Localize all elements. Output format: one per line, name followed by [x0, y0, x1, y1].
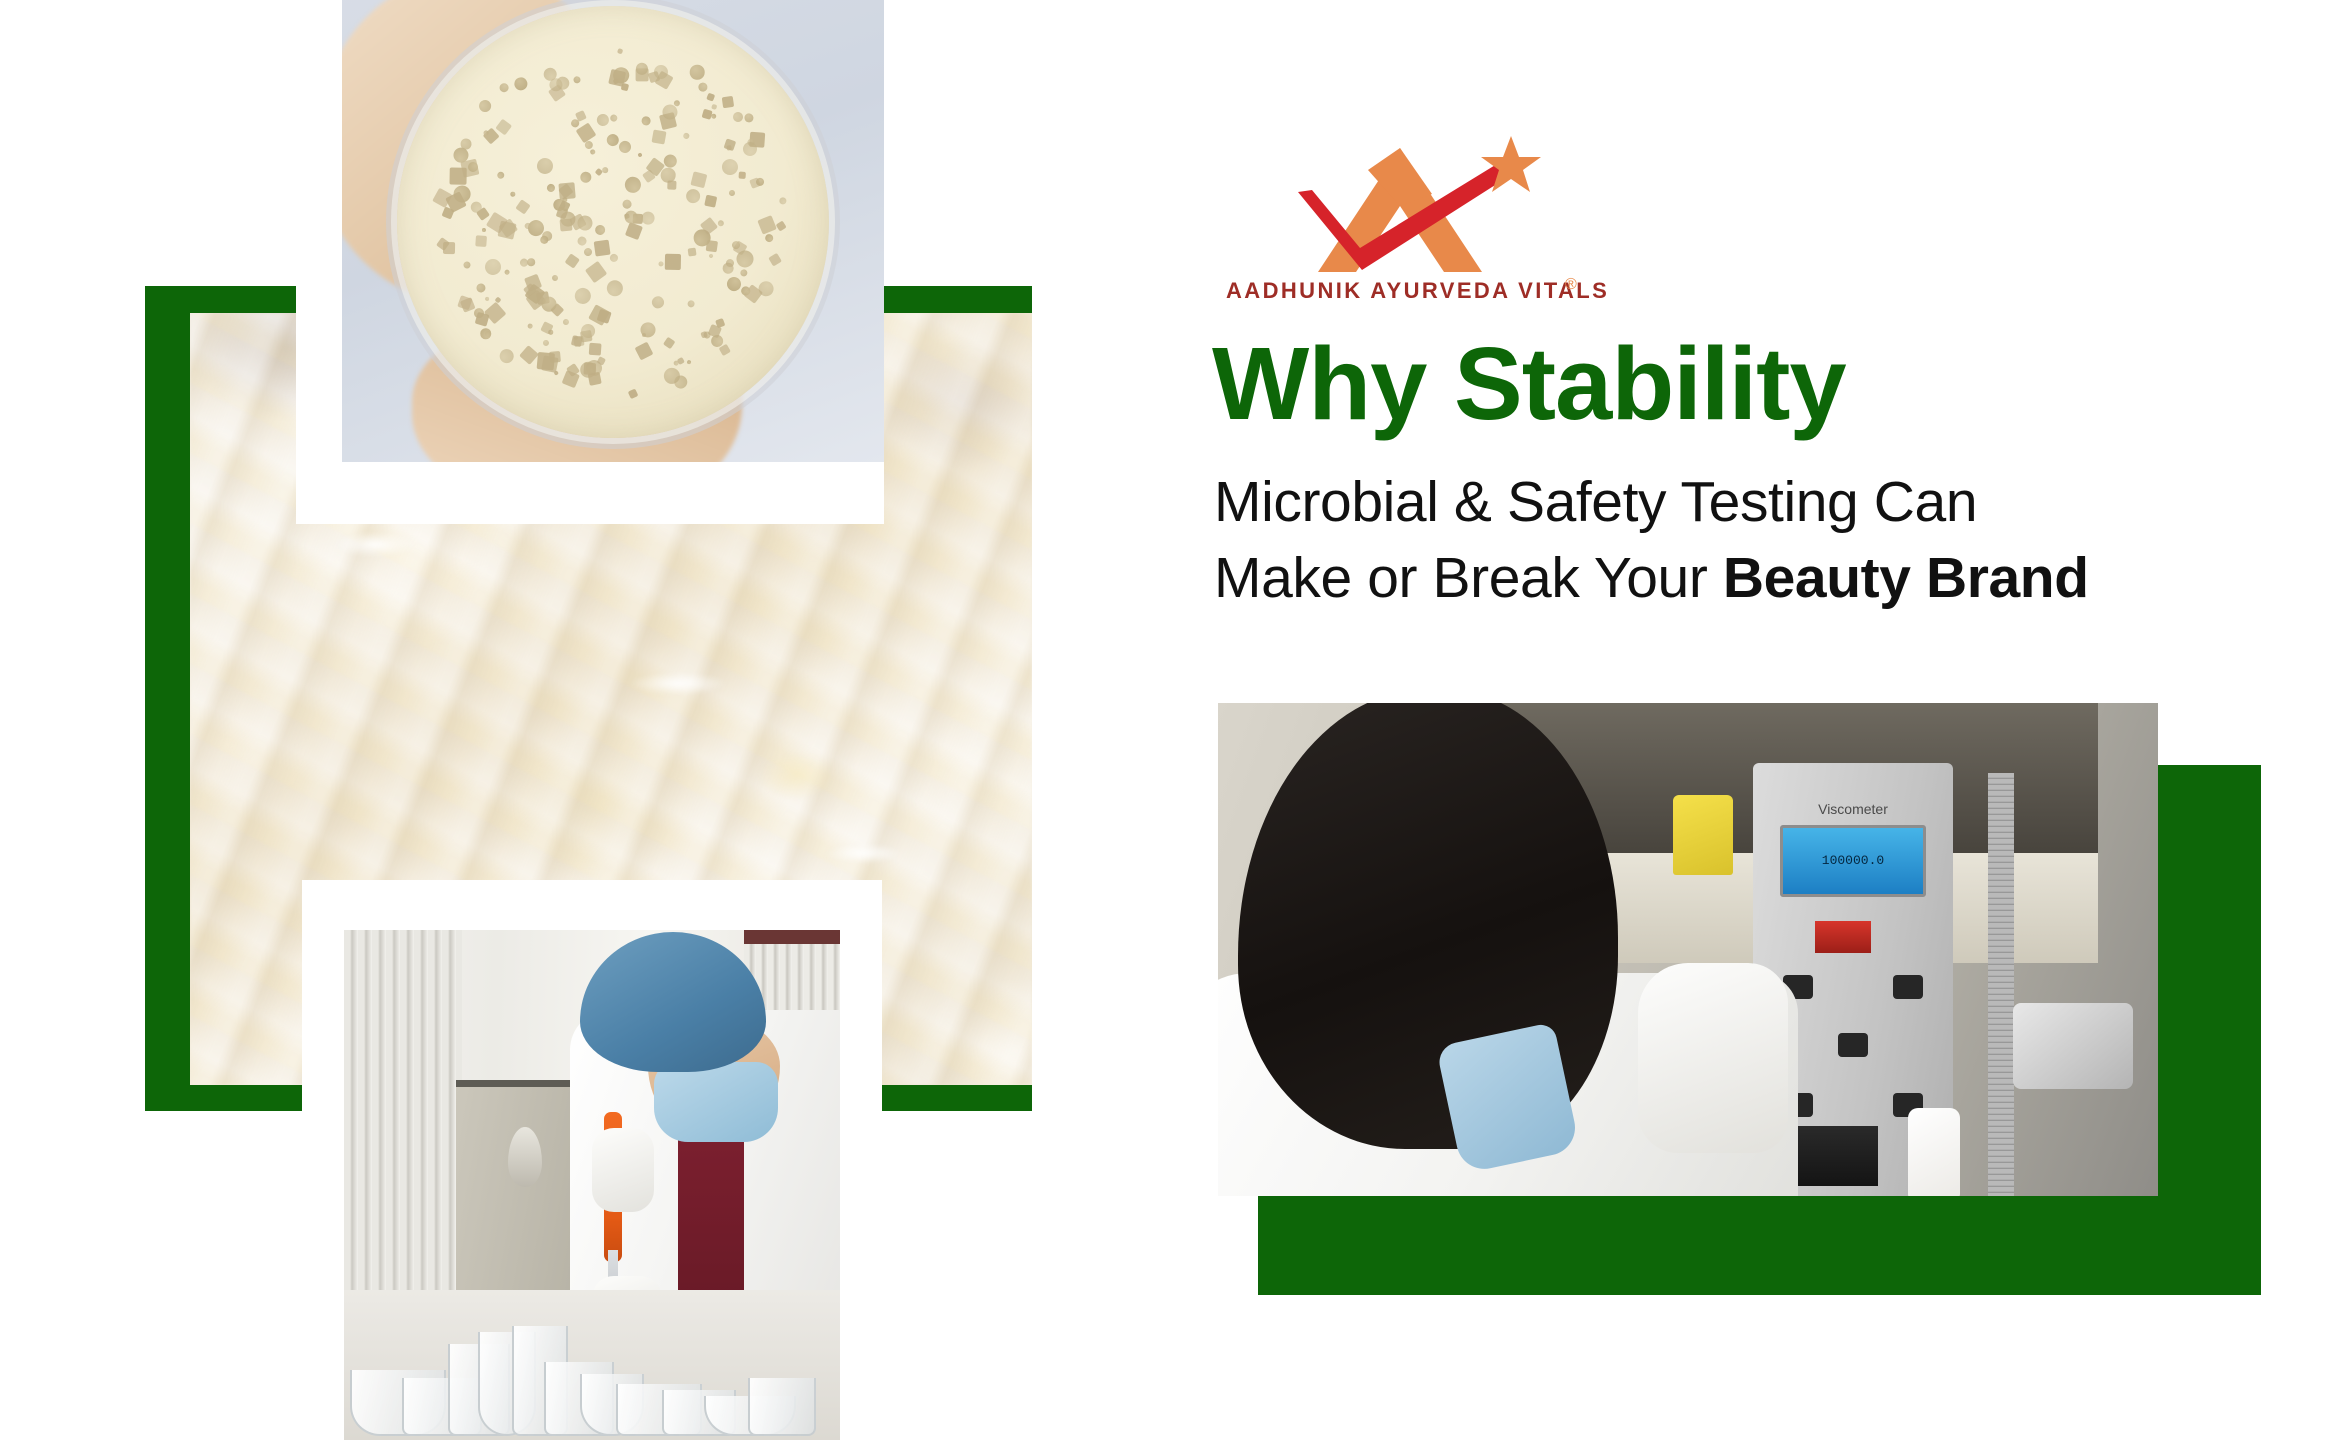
lcd-readout: 100000.0: [1822, 853, 1884, 869]
lab-technician-pipetting-photo: [344, 930, 840, 1440]
right-content-panel: AADHUNIK AYURVEDA VITALS ® Why Stability…: [1190, 0, 2343, 1406]
brand-wordmark: AADHUNIK AYURVEDA VITALS: [1226, 278, 1609, 304]
yellow-reagent-bottle: [1673, 795, 1733, 875]
viscometer-lcd-display: 100000.0: [1780, 825, 1926, 897]
subtitle-line-2-bold: Beauty Brand: [1723, 546, 2089, 610]
stand-clamp: [2013, 1003, 2133, 1089]
lab-technician-viscometer-photo: Viscometer 100000.0 LMDV-60: [1218, 703, 2158, 1196]
agar-plate: [397, 6, 829, 438]
lab-technician-photo-card: [302, 880, 882, 1440]
aadhunik-mountain-check-star-logo: [1220, 130, 1580, 280]
viscometer-technician-glove: [1638, 963, 1788, 1153]
subtitle-line-2-plain: Make or Break Your: [1214, 546, 1723, 610]
bacterial-colonies: [419, 28, 807, 416]
viscometer-label: Viscometer: [1753, 801, 1953, 817]
page-subtitle: Microbial & Safety Testing Can Make or B…: [1214, 465, 2214, 617]
technician-glove-upper: [592, 1128, 654, 1212]
viscometer-button-2[interactable]: [1893, 975, 1923, 999]
technician-face-mask: [654, 1062, 778, 1142]
page-title: Why Stability: [1212, 330, 1846, 438]
subtitle-line-1: Microbial & Safety Testing Can: [1214, 470, 1977, 534]
viscometer-stand-post: [1988, 773, 2014, 1196]
glassware-item: [748, 1378, 816, 1436]
left-image-collage: [0, 0, 1100, 1406]
petri-dish-bacterial-colonies-photo: [342, 0, 884, 462]
viscometer-brand-badge: [1815, 921, 1871, 953]
pump-bottle: [1908, 1108, 1960, 1196]
petri-dish-photo-card: [296, 0, 884, 524]
registered-trademark-icon: ®: [1565, 276, 1577, 294]
brand-logo: AADHUNIK AYURVEDA VITALS ®: [1220, 130, 1580, 325]
cabinet-handle: [508, 1127, 542, 1187]
viscometer-button-enter[interactable]: [1838, 1033, 1868, 1057]
